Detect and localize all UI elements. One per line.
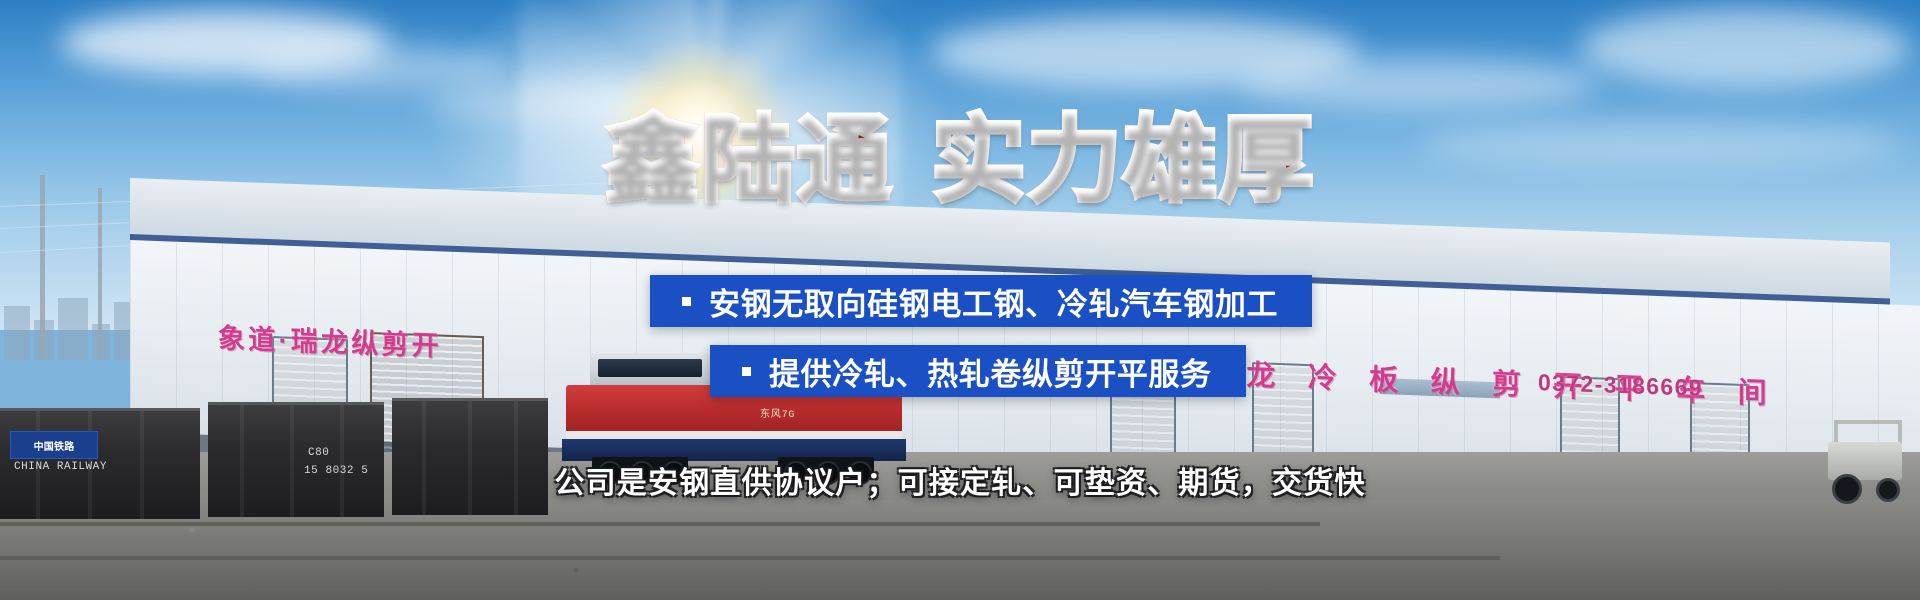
locomotive-window	[598, 359, 702, 377]
freight-wagon	[392, 398, 548, 515]
feature-box-1: 安钢无取向硅钢电工钢、冷轧汽车钢加工	[650, 275, 1312, 327]
feature-box-2-text: 提供冷轧、热轧卷纵剪开平服务	[769, 349, 1246, 394]
railcar-mark: C80	[308, 447, 329, 459]
hero-banner: 象道·瑞龙纵剪开 象 道 · 瑞 龙 冷 板 纵 剪 开 平 车 间 0372-…	[0, 0, 1920, 600]
feature-box-1-text: 安钢无取向硅钢电工钢、冷轧汽车钢加工	[709, 279, 1312, 324]
freight-wagon: C80 15 8032 5	[208, 402, 384, 517]
feature-box-2: 提供冷轧、热轧卷纵剪开平服务	[710, 345, 1246, 397]
forklift	[1810, 420, 1920, 500]
square-bullet-icon	[682, 297, 691, 306]
locomotive-number: 东风7G	[760, 405, 795, 421]
railcar-mark: 15 8032 5	[304, 465, 368, 477]
freight-wagon: 中国铁路 CHINA RAILWAY	[0, 408, 200, 519]
rail-track	[0, 522, 1320, 526]
forklift-body	[1828, 442, 1902, 480]
cloud	[1240, 58, 1600, 110]
cloud	[250, 46, 510, 90]
square-bullet-icon	[742, 367, 751, 376]
cloud	[1580, 8, 1910, 88]
locomotive-stripe	[566, 431, 902, 439]
building-sign-left: 象道·瑞龙纵剪开	[218, 316, 442, 364]
building-phone-number: 0372-3186669	[1538, 369, 1703, 402]
railcar-logo-subtext: CHINA RAILWAY	[14, 461, 107, 473]
forklift-wheel	[1832, 474, 1862, 504]
railcar-logo: 中国铁路	[10, 431, 98, 459]
rail-track	[0, 556, 1500, 560]
forklift-wheel	[1876, 478, 1900, 502]
railcar-logo-text: 中国铁路	[34, 438, 75, 453]
